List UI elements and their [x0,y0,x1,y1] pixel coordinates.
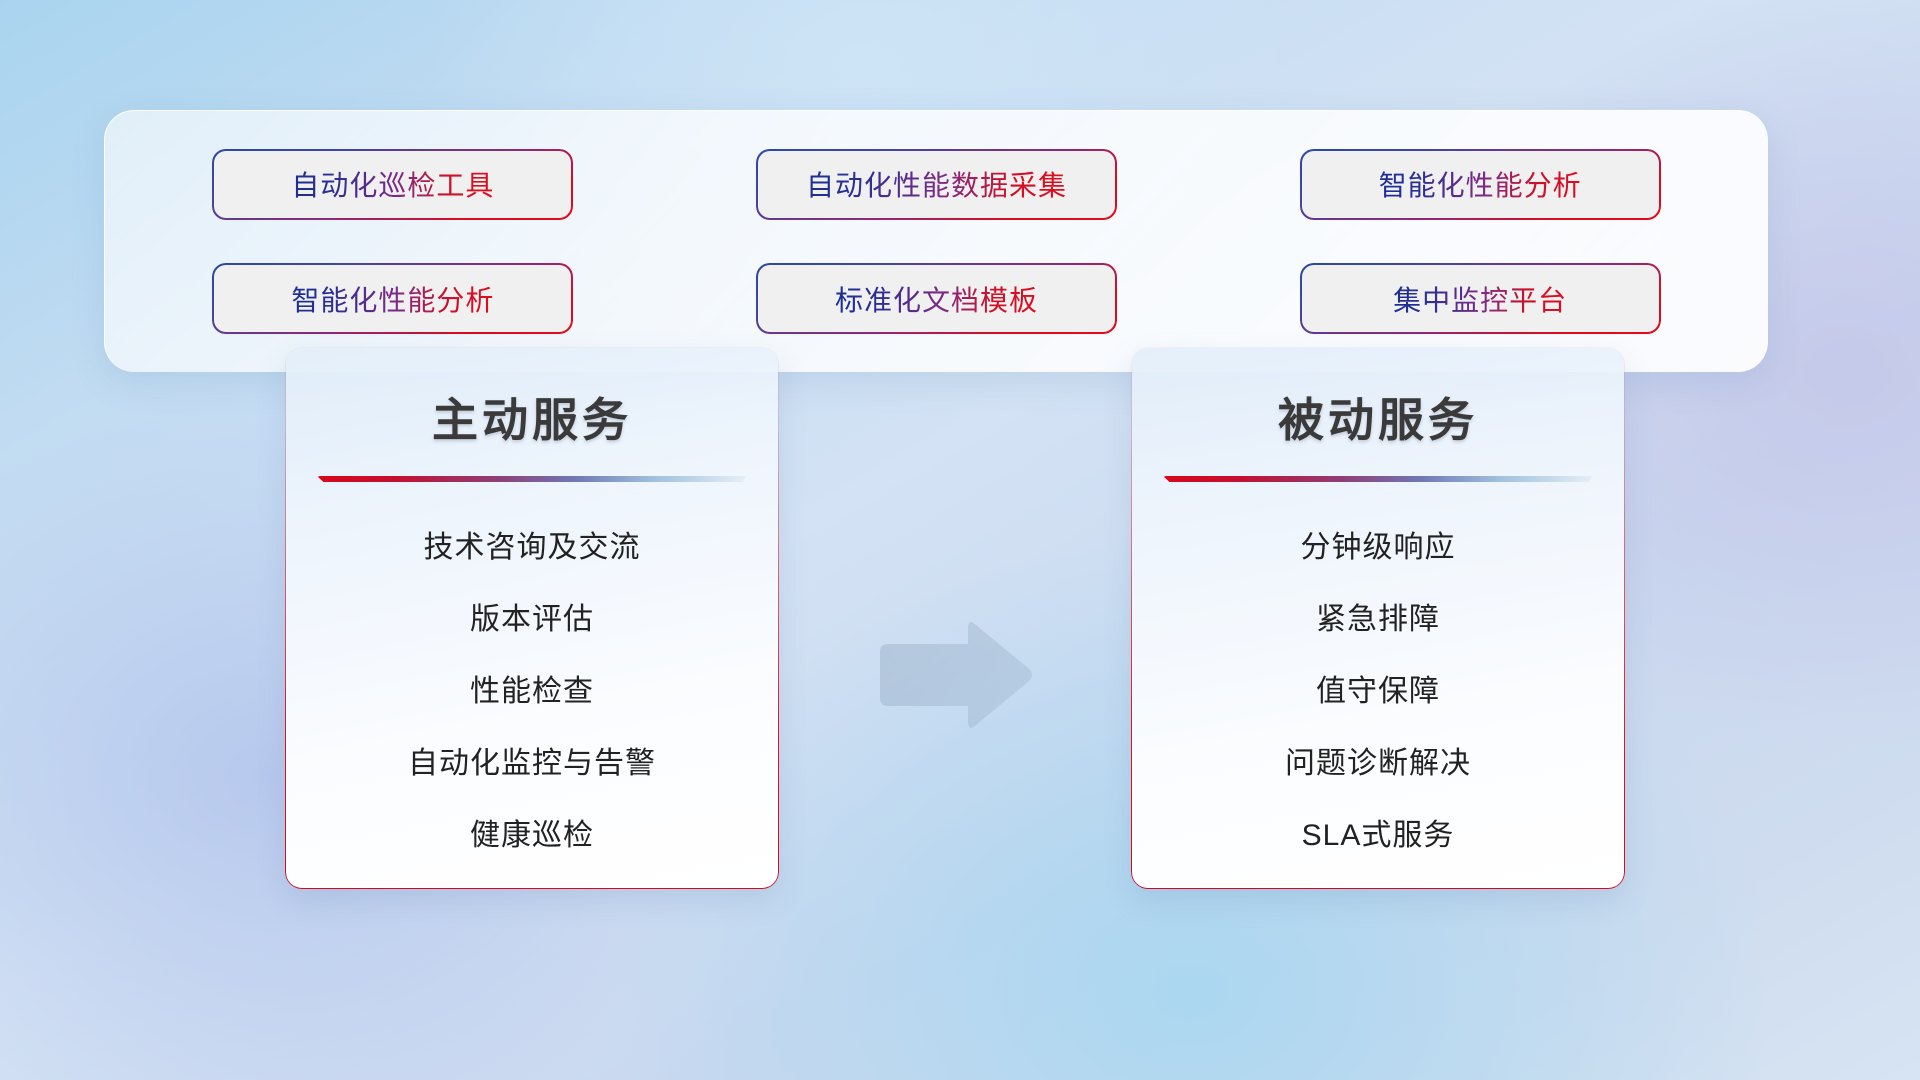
list-item: 值守保障 [1132,656,1624,728]
capability-chip-label: 自动化巡检工具 [291,164,494,204]
proactive-card-divider [317,476,747,482]
reactive-card-divider [1163,476,1593,482]
capability-chip-label: 标准化文档模板 [835,279,1038,319]
reactive-service-card: 被动服务 分钟级响应 紧急排障 值守保障 问题诊断解决 SLA式服务 [1132,348,1624,888]
proactive-service-list: 技术咨询及交流 版本评估 性能检查 自动化监控与告警 健康巡检 [286,512,778,872]
capability-chip-label: 智能化性能分析 [291,279,494,319]
capability-chip-label: 自动化性能数据采集 [806,164,1067,204]
list-item: 分钟级响应 [1132,512,1624,584]
reactive-card-title: 被动服务 [1132,384,1624,450]
slide-canvas: 自动化巡检工具 自动化性能数据采集 智能化性能分析 智能化性能分析 标准化文档模… [0,0,1920,1080]
capability-chip[interactable]: 智能化性能分析 [1301,150,1659,218]
capability-panel: 自动化巡检工具 自动化性能数据采集 智能化性能分析 智能化性能分析 标准化文档模… [104,110,1768,372]
capability-chip[interactable]: 智能化性能分析 [214,265,572,333]
list-item: 技术咨询及交流 [286,512,778,584]
list-item: 健康巡检 [286,800,778,872]
capability-chip-grid: 自动化巡检工具 自动化性能数据采集 智能化性能分析 智能化性能分析 标准化文档模… [105,111,1768,372]
capability-chip-label: 集中监控平台 [1393,279,1567,319]
capability-chip[interactable]: 自动化巡检工具 [214,150,572,218]
capability-chip[interactable]: 自动化性能数据采集 [757,150,1115,218]
proactive-card-title: 主动服务 [286,384,778,450]
capability-chip[interactable]: 标准化文档模板 [757,265,1115,333]
reactive-service-list: 分钟级响应 紧急排障 值守保障 问题诊断解决 SLA式服务 [1132,512,1624,872]
arrow-right-icon [876,620,1036,730]
list-item: SLA式服务 [1132,800,1624,872]
list-item: 版本评估 [286,584,778,656]
list-item: 紧急排障 [1132,584,1624,656]
capability-chip-label: 智能化性能分析 [1379,164,1582,204]
list-item: 自动化监控与告警 [286,728,778,800]
list-item: 问题诊断解决 [1132,728,1624,800]
proactive-service-card: 主动服务 技术咨询及交流 版本评估 性能检查 自动化监控与告警 健康巡检 [286,348,778,888]
capability-chip[interactable]: 集中监控平台 [1301,265,1659,333]
list-item: 性能检查 [286,656,778,728]
